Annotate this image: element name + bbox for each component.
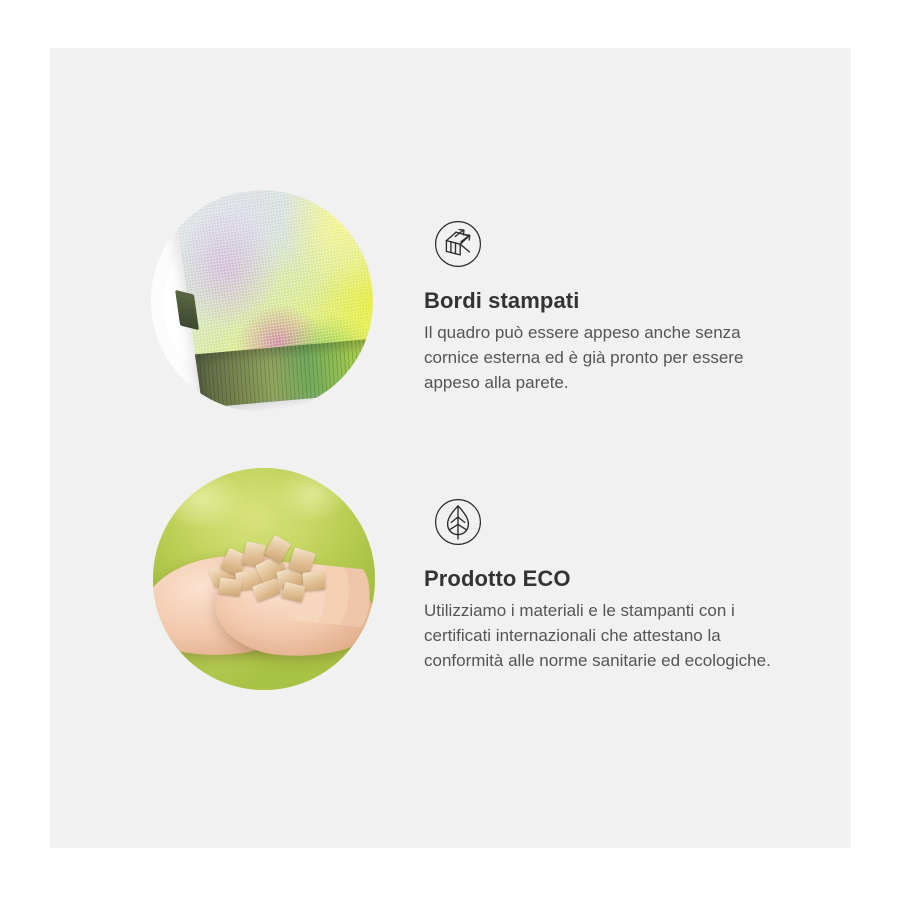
feature-title: Bordi stampati [424,288,579,314]
feature-description: Utilizziamo i materiali e le stampanti c… [424,598,799,673]
wrapped-canvas-edges-icon [430,216,486,272]
leaf-icon [430,494,486,550]
feature-description: Il quadro può essere appeso anche senza … [424,320,799,395]
product-feature-infographic: Bordi stampati Il quadro può essere appe… [0,0,900,900]
hands-holding-wood-chips-photo [153,468,375,690]
wood-chips-pile [206,537,330,610]
printed-canvas-corner-photo [151,190,373,412]
feature-title: Prodotto ECO [424,566,571,592]
canvas-face [173,190,373,408]
content-panel: Bordi stampati Il quadro può essere appe… [50,48,851,848]
